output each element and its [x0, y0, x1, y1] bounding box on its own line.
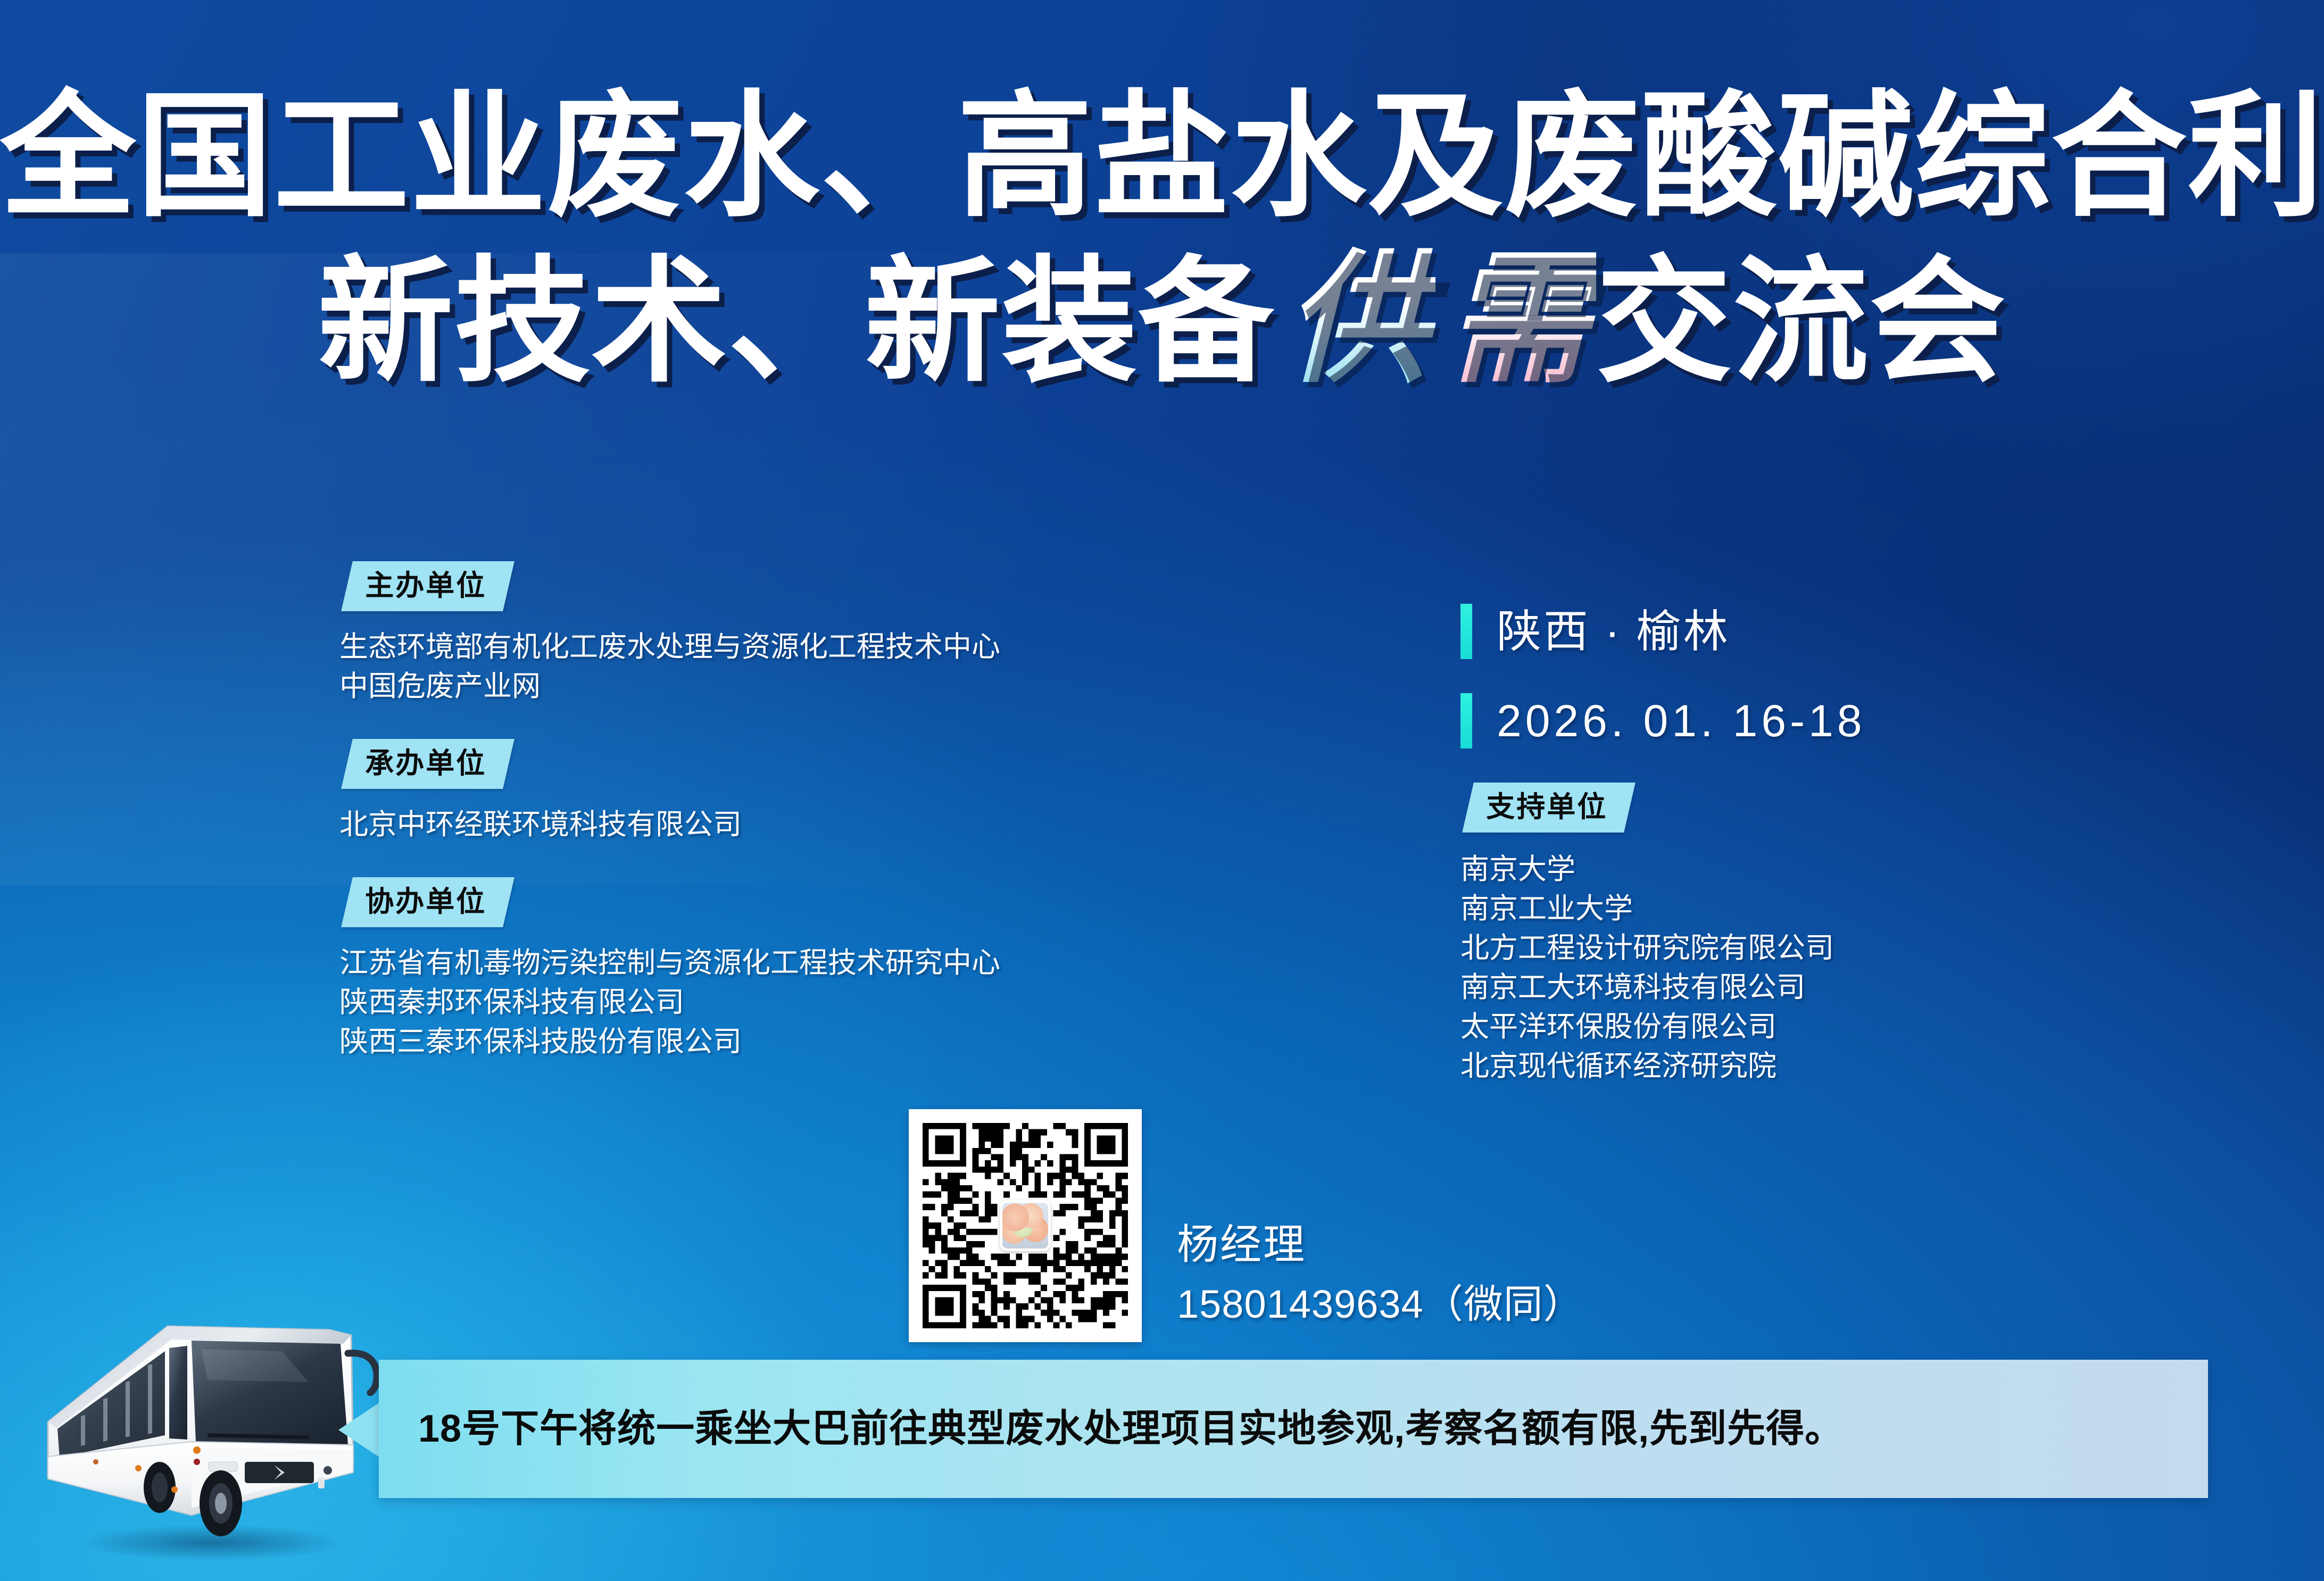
list-item: 江苏省有机毒物污染控制与资源化工程技术研究中心 [339, 943, 1244, 983]
accent-bar-icon [1460, 693, 1472, 748]
list-item: 陕西秦邦环保科技有限公司 [339, 983, 1244, 1022]
headline-line-2: 新技术、新装备供需交流会 [0, 239, 2324, 402]
headline-line-2-part-1: 新技术、新装备 [318, 246, 1275, 398]
label-coorganizer-units: 协办单位 [341, 877, 514, 927]
accent-bar-icon [1460, 604, 1472, 659]
tag-wrap: 主办单位 [347, 561, 1244, 611]
tag-wrap: 协办单位 [347, 877, 1244, 927]
organizers-column: 主办单位 生态环境部有机化工废水处理与资源化工程技术中心 中国危废产业网 承办单… [339, 561, 1244, 1094]
notice-banner-text: 18号下午将统一乘坐大巴前往典型废水处理项目实地参观,考察名额有限,先到先得。 [379, 1406, 1844, 1452]
host-units-list: 生态环境部有机化工废水处理与资源化工程技术中心 中国危废产业网 [339, 627, 1244, 706]
event-date-row: 2026. 01. 16-18 [1460, 693, 2232, 748]
label-support-units-text: 支持单位 [1486, 793, 1607, 821]
organizer-block-host: 主办单位 生态环境部有机化工废水处理与资源化工程技术中心 中国危废产业网 [339, 561, 1244, 706]
support-units-block: 支持单位 南京大学 南京工业大学 北方工程设计研究院有限公司 南京工大环境科技有… [1460, 783, 2232, 1086]
organizer-block-organizer: 承办单位 北京中环经联环境科技有限公司 [339, 739, 1244, 844]
contact-section: 杨经理 15801439634（微同） [909, 1109, 1583, 1342]
avatar-photo-icon [1000, 1200, 1051, 1251]
support-units-list: 南京大学 南京工业大学 北方工程设计研究院有限公司 南京工大环境科技有限公司 太… [1460, 850, 2232, 1086]
notice-banner: 18号下午将统一乘坐大巴前往典型废水处理项目实地参观,考察名额有限,先到先得。 [379, 1360, 2208, 1498]
label-organizer-units-text: 承办单位 [365, 749, 486, 778]
label-host-units: 主办单位 [341, 561, 514, 611]
contact-phone[interactable]: 15801439634（微同） [1177, 1278, 1583, 1330]
organizer-block-coorganizer: 协办单位 江苏省有机毒物污染控制与资源化工程技术研究中心 陕西秦邦环保科技有限公… [339, 877, 1244, 1061]
speech-tail-icon [338, 1402, 380, 1458]
label-organizer-units: 承办单位 [341, 739, 514, 789]
headline-brush-gong: 供 [1275, 235, 1435, 403]
label-host-units-text: 主办单位 [365, 571, 486, 600]
list-item: 南京大学 [1460, 850, 2232, 889]
event-date: 2026. 01. 16-18 [1497, 696, 1866, 745]
contact-info: 杨经理 15801439634（微同） [1177, 1218, 1583, 1342]
list-item: 陕西三秦环保科技股份有限公司 [339, 1022, 1244, 1061]
list-item: 生态环境部有机化工废水处理与资源化工程技术中心 [339, 627, 1244, 667]
list-item: 南京工大环境科技有限公司 [1460, 968, 2232, 1007]
list-item: 太平洋环保股份有限公司 [1460, 1007, 2232, 1046]
list-item: 南京工业大学 [1460, 889, 2232, 928]
bus-icon [32, 1302, 383, 1568]
list-item: 北方工程设计研究院有限公司 [1460, 928, 2232, 968]
poster-headline: 全国工业废水、高盐水及废酸碱综合利用 新技术、新装备供需交流会 [0, 80, 2324, 402]
label-coorganizer-units-text: 协办单位 [365, 887, 486, 916]
headline-brush-xu: 需 [1435, 235, 1596, 403]
contact-name: 杨经理 [1177, 1218, 1583, 1271]
headline-line-1: 全国工业废水、高盐水及废酸碱综合利用 [0, 80, 2324, 234]
tag-wrap: 支持单位 [1468, 783, 2232, 833]
qr-code-icon[interactable] [909, 1109, 1142, 1342]
tag-wrap: 承办单位 [347, 739, 1244, 789]
headline-line-2-part-2: 交流会 [1596, 246, 2006, 398]
list-item: 中国危废产业网 [339, 667, 1244, 706]
coorganizer-units-list: 江苏省有机毒物污染控制与资源化工程技术研究中心 陕西秦邦环保科技有限公司 陕西三… [339, 943, 1244, 1061]
list-item: 北京现代循环经济研究院 [1460, 1046, 2232, 1086]
label-support-units: 支持单位 [1462, 783, 1636, 833]
list-item: 北京中环经联环境科技有限公司 [339, 805, 1244, 844]
organizer-units-list: 北京中环经联环境科技有限公司 [339, 805, 1244, 844]
event-details-column: 陕西 · 榆林 2026. 01. 16-18 支持单位 南京大学 南京工业大学… [1460, 604, 2232, 1086]
event-location: 陕西 · 榆林 [1497, 607, 1730, 656]
event-location-row: 陕西 · 榆林 [1460, 604, 2232, 659]
